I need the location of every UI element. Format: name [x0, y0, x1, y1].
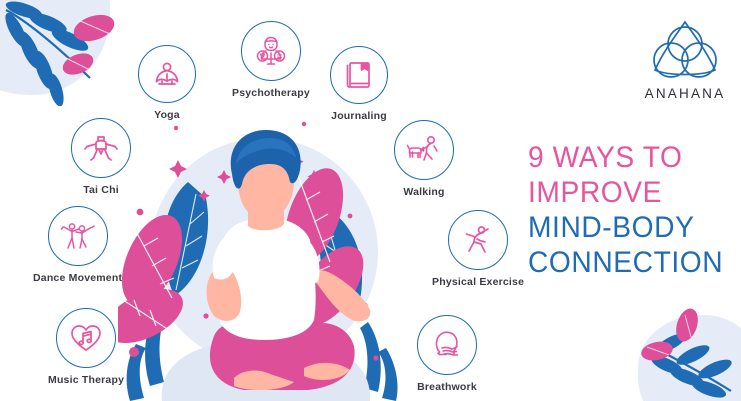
- brand-block: ANAHANA: [640, 18, 730, 101]
- item-label: Dance Movement: [33, 273, 122, 284]
- dance-movement-icon: [60, 219, 96, 253]
- yoga-icon-ring[interactable]: [138, 45, 196, 103]
- item-label: Walking: [403, 187, 444, 198]
- item-label: Yoga: [154, 110, 180, 121]
- item-label: Psychotherapy: [232, 88, 310, 99]
- psychotherapy-icon: [254, 34, 288, 68]
- item-journaling[interactable]: Journaling: [330, 46, 388, 122]
- physical-exercise-icon-ring[interactable]: [448, 210, 508, 270]
- item-label: Tai Chi: [83, 185, 119, 196]
- item-label: Music Therapy: [48, 375, 124, 386]
- item-label: Journaling: [331, 111, 387, 122]
- page-title: 9 WAYS TO IMPROVE MIND-BODY CONNECTION: [528, 140, 740, 280]
- tai-chi-figure-icon: [83, 131, 119, 165]
- journal-book-icon: [343, 59, 375, 91]
- journaling-icon-ring[interactable]: [330, 46, 388, 104]
- title-line-1: 9 WAYS TO: [528, 140, 727, 175]
- triquetra-icon: [646, 18, 724, 84]
- infographic-poster: Yoga: [0, 0, 741, 401]
- title-line-3: MIND-BODY: [528, 210, 727, 245]
- leaf-branch-decoration-bottom-right: [623, 295, 741, 401]
- breathwork-head-icon: [430, 328, 464, 362]
- title-line-4: CONNECTION: [528, 245, 727, 280]
- dance-movement-icon-ring[interactable]: [48, 206, 108, 266]
- item-tai-chi[interactable]: Tai Chi: [71, 118, 131, 196]
- item-physical-exercise[interactable]: Physical Exercise: [432, 210, 524, 288]
- walking-icon-ring[interactable]: [394, 120, 454, 180]
- item-label: Breathwork: [417, 382, 477, 393]
- brand-name: ANAHANA: [640, 87, 730, 101]
- item-label: Physical Exercise: [432, 277, 524, 288]
- item-dance-movement[interactable]: Dance Movement: [33, 206, 122, 284]
- breathwork-icon-ring[interactable]: [417, 315, 477, 375]
- item-walking[interactable]: Walking: [394, 120, 454, 198]
- item-psychotherapy[interactable]: Psychotherapy: [232, 21, 310, 99]
- leaf-branch-decoration-top-left: [0, 0, 144, 106]
- music-therapy-icon-ring[interactable]: [56, 308, 116, 368]
- yoga-lotus-icon: [150, 57, 184, 91]
- walking-dog-icon: [406, 133, 442, 167]
- music-heart-icon: [69, 322, 103, 354]
- item-yoga[interactable]: Yoga: [138, 45, 196, 121]
- physical-exercise-icon: [461, 223, 495, 257]
- item-breathwork[interactable]: Breathwork: [417, 315, 477, 393]
- psychotherapy-icon-ring[interactable]: [241, 21, 301, 81]
- meditating-person-illustration: [118, 120, 408, 401]
- tai-chi-icon-ring[interactable]: [71, 118, 131, 178]
- title-line-2: IMPROVE: [528, 175, 727, 210]
- item-music-therapy[interactable]: Music Therapy: [48, 308, 124, 386]
